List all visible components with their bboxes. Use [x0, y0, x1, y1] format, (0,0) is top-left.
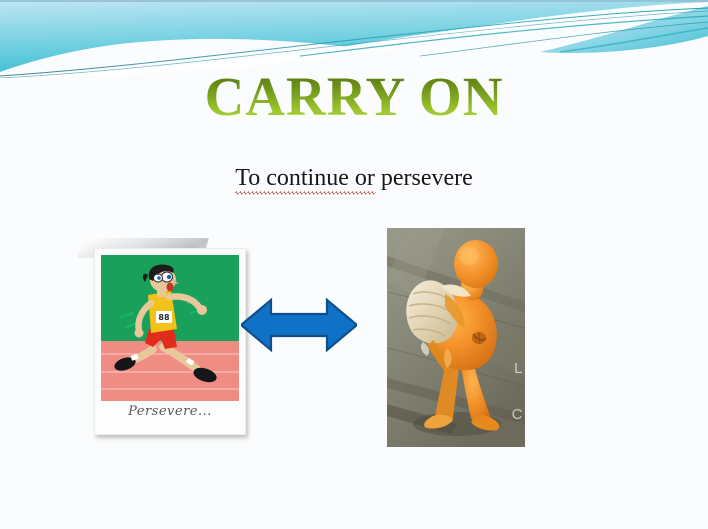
slide-subtitle-container: To continue or persevere	[0, 165, 708, 192]
subtitle-remainder: persevere	[375, 165, 473, 191]
card-artwork: 88	[101, 255, 239, 401]
double-arrow-icon	[241, 296, 357, 354]
powerpoint-slide: CARRY ON To continue or persevere	[0, 0, 708, 529]
slide-title: CARRY ON	[0, 68, 708, 126]
card-caption-text: Persevere...	[95, 404, 245, 419]
orange-peel-man-photo: L C	[387, 228, 525, 447]
spellcheck-underlined-text: To continue or	[235, 165, 375, 192]
photo-watermark-line-2: C	[512, 406, 523, 423]
running-man-illustration: 88	[101, 255, 239, 401]
slide-subtitle: To continue or persevere	[235, 165, 473, 192]
photo-watermark-line-1: L	[514, 360, 523, 377]
double-headed-arrow	[241, 296, 357, 354]
orange-figure-illustration	[387, 228, 525, 447]
card-front-face: 88	[94, 248, 246, 435]
greeting-card-image: 88	[58, 238, 244, 433]
svg-text:88: 88	[158, 313, 170, 322]
